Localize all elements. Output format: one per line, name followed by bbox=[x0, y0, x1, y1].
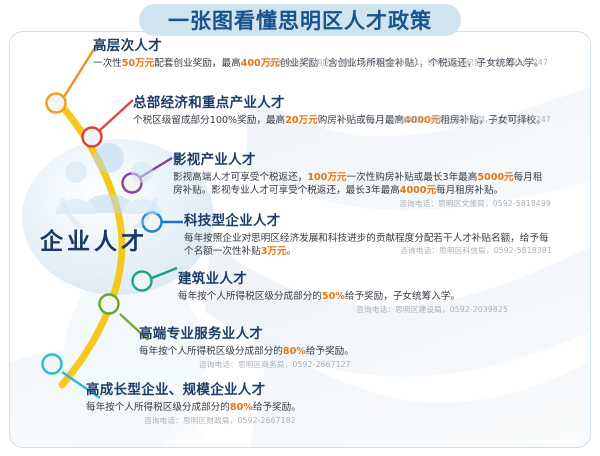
item-title: 高端专业服务业人才 bbox=[139, 326, 559, 343]
item-title: 高层次人才 bbox=[93, 38, 563, 55]
people-group-icon bbox=[48, 128, 170, 228]
page-title-pill: 一张图看懂思明区人才政策 bbox=[139, 4, 461, 36]
item-title: 影视产业人才 bbox=[173, 152, 568, 169]
item-phone: 咨询电话：思明区商务局，0592-2667127 bbox=[199, 359, 559, 370]
item-phone: 咨询电话：思明区建设局，0592-2039825 bbox=[178, 304, 508, 315]
item-professional-services-talent: 高端专业服务业人才 每年按个人所得税区级分成部分的80%给予奖励。 咨询电话：思… bbox=[139, 326, 559, 370]
page-title: 一张图看懂思明区人才政策 bbox=[168, 5, 432, 35]
item-body: 每年按个人所得税区级分成部分的50%给予奖励，子女统筹入学。 bbox=[178, 290, 550, 303]
item-title: 高成长型企业、规模企业人才 bbox=[86, 382, 546, 399]
item-film-industry-talent: 影视产业人才 影视高端人才可享受个税返还，100万元一次性购房补贴或最长3年最高… bbox=[173, 152, 568, 209]
item-body: 每年按个人所得税区级分成部分的80%给予奖励。 bbox=[139, 345, 539, 358]
item-high-level-talent: 高层次人才 一次性50万元配套创业奖励，最高400万元创业奖励（含创业场所租金补… bbox=[93, 38, 563, 68]
item-title: 科技型企业人才 bbox=[184, 213, 569, 230]
item-title: 建筑业人才 bbox=[178, 271, 568, 288]
item-high-growth-enterprise-talent: 高成长型企业、规模企业人才 每年按个人所得税区级分成部分的80%给予奖励。 咨询… bbox=[86, 382, 546, 426]
center-label: 企业人才 bbox=[14, 222, 174, 256]
item-body: 每年按个人所得税区级分成部分的80%给予奖励。 bbox=[86, 401, 526, 414]
item-phone: 咨询电话：思明区文旅局，0592-5818499 bbox=[173, 198, 551, 209]
item-tech-enterprise-talent: 科技型企业人才 每年按照企业对思明区经济发展和科技进步的贡献程度分配若干人才补贴… bbox=[184, 213, 569, 256]
item-construction-industry-talent: 建筑业人才 每年按个人所得税区级分成部分的50%给予奖励，子女统筹入学。 咨询电… bbox=[178, 271, 568, 315]
item-title: 总部经济和重点产业人才 bbox=[133, 95, 563, 112]
item-headquarters-economy-talent: 总部经济和重点产业人才 个税区级留成部分100%奖励，最高20万元购房补贴或每月… bbox=[133, 95, 563, 125]
infographic-root: 一张图看懂思明区人才政策 企业人才 高层次人才 一次性50万元配套创业奖励，最高… bbox=[0, 0, 600, 456]
item-phone: 咨询电话：思明区财政局，0592-2667182 bbox=[144, 415, 546, 426]
item-body: 影视高端人才可享受个税返还，100万元一次性购房补贴或最长3年最高5000元每月… bbox=[173, 171, 551, 197]
